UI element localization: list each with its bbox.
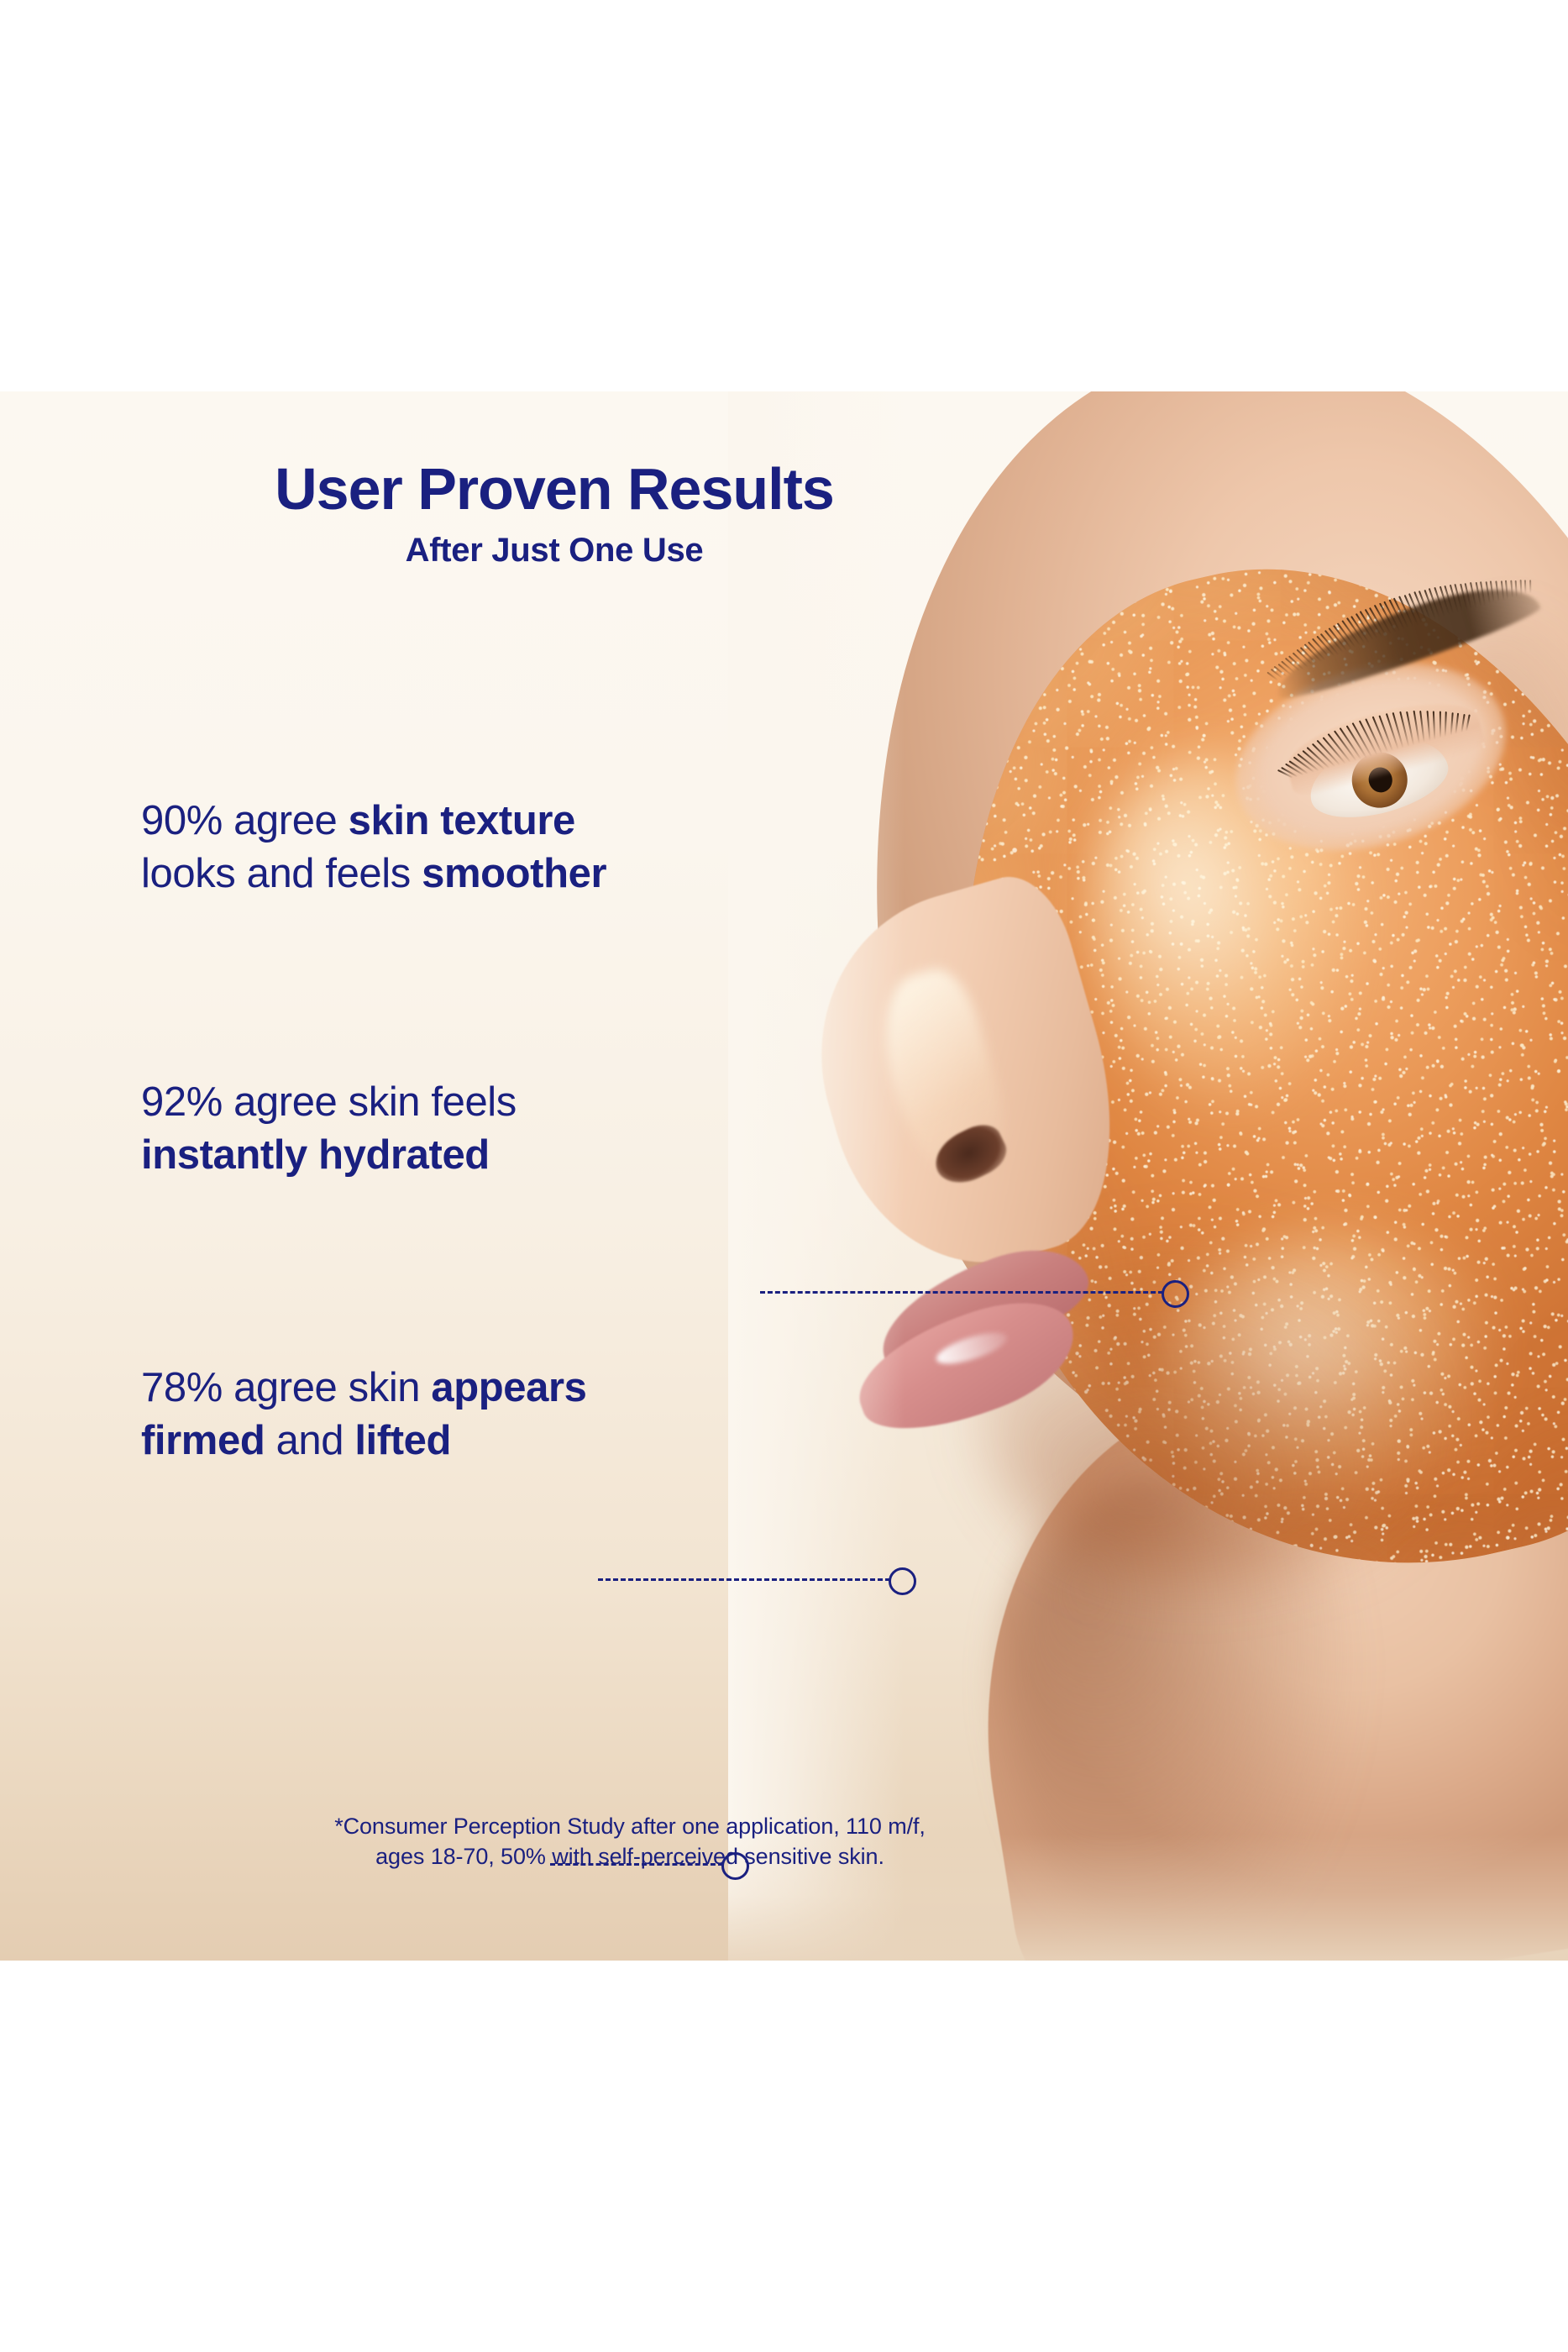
- study-footnote: *Consumer Perception Study after one app…: [0, 1811, 1260, 1872]
- footnote-line-2: ages 18-70, 50% with self-perceived sens…: [0, 1841, 1260, 1872]
- claim-hydration-line1: 92% agree skin feels: [141, 1079, 517, 1125]
- title-block: User Proven Results After Just One Use: [0, 459, 1109, 570]
- image-canvas: User Proven Results After Just One Use 9…: [0, 0, 1568, 2352]
- leader-line-hydration: [598, 1578, 890, 1581]
- claim-firming-line1-plain: 78% agree skin: [141, 1365, 431, 1410]
- claim-firming-line2-bold: firmed: [141, 1418, 265, 1463]
- leader-endpoint-hydration: [889, 1567, 916, 1595]
- claim-texture-line1-plain: 90% agree: [141, 798, 349, 843]
- page-title: User Proven Results: [0, 459, 1109, 520]
- claim-texture-line2-plain: looks and feels: [141, 851, 422, 896]
- claim-firming-line1-bold: appears: [431, 1365, 586, 1410]
- claim-firming-line2-plain: and: [265, 1418, 354, 1463]
- claim-firming: 78% agree skin appears firmed and lifted: [141, 1362, 587, 1467]
- claim-texture-line2-bold: smoother: [422, 851, 606, 896]
- text-layer: User Proven Results After Just One Use 9…: [0, 391, 1568, 1961]
- claim-texture: 90% agree skin texture looks and feels s…: [141, 795, 606, 900]
- footnote-line-1: *Consumer Perception Study after one app…: [0, 1811, 1260, 1841]
- claim-texture-line1-bold: skin texture: [349, 798, 575, 843]
- claim-hydration-line2-bold: instantly hydrated: [141, 1129, 490, 1182]
- claim-firming-line2-bold2: lifted: [354, 1418, 451, 1463]
- page-subtitle: After Just One Use: [0, 532, 1109, 570]
- leader-endpoint-texture: [1162, 1280, 1189, 1308]
- leader-line-texture: [760, 1291, 1163, 1294]
- creative-panel: User Proven Results After Just One Use 9…: [0, 391, 1568, 1961]
- claim-hydration: 92% agree skin feels instantly hydrated: [141, 1076, 517, 1181]
